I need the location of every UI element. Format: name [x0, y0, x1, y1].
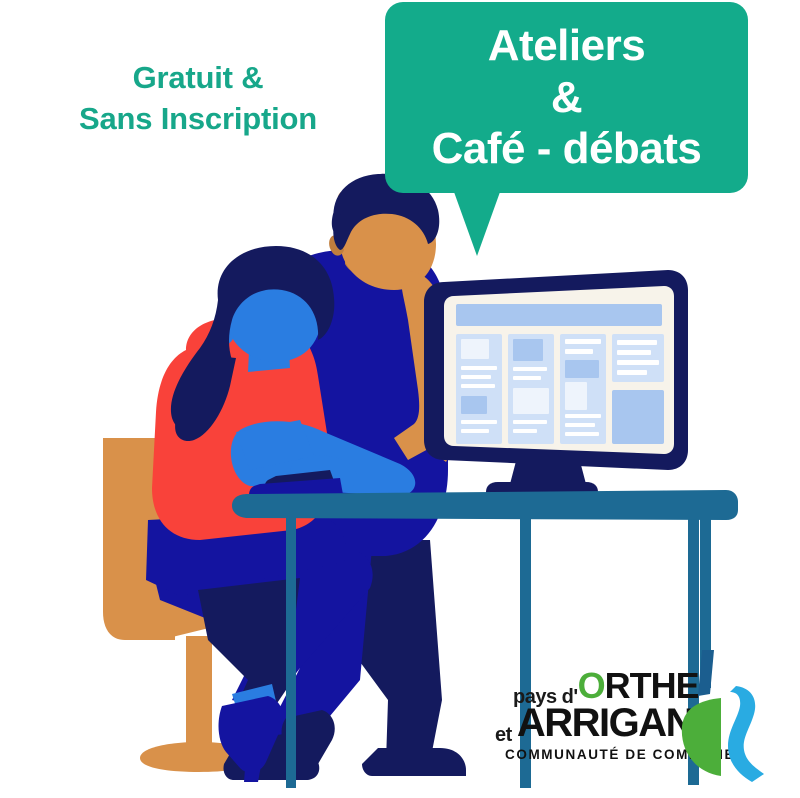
page-title: Ateliers & Café - débats [432, 20, 702, 176]
logo-accent-o: O [578, 665, 605, 706]
logo-leaf-icon [682, 698, 721, 776]
logo-mark [680, 650, 795, 785]
computer-monitor [424, 270, 688, 496]
poster-root: Gratuit & Sans Inscription Ateliers & Ca… [0, 0, 800, 798]
speech-bubble-tail [454, 192, 500, 256]
logo-stem-icon [698, 650, 714, 696]
logo[interactable]: pays d'ORTHE et ARRIGANS COMMUNAUTÉ DE C… [495, 655, 795, 785]
logo-river-icon [728, 686, 764, 782]
logo-prefix-et: et [495, 724, 517, 746]
page-subtitle: Gratuit & Sans Inscription [48, 58, 348, 140]
logo-mark-svg [680, 650, 795, 785]
speech-bubble: Ateliers & Café - débats [385, 2, 748, 193]
